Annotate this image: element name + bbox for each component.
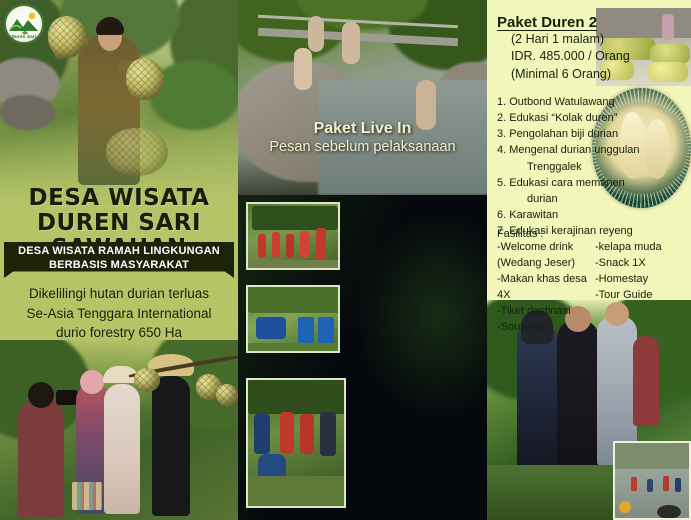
facility-item: -Snack 1X	[595, 256, 687, 272]
thumb-organic-fertilizer-drums	[246, 285, 340, 353]
thumb-grafting-education	[246, 378, 346, 508]
facilities-column-left: -Welcome drink (Wedang Jeser)-Makan khas…	[497, 240, 589, 336]
tourist-figure-2	[104, 384, 140, 514]
tagline-line-2: Se-Asia Tenggara International	[0, 304, 238, 324]
ribbon-line-2: BERBASIS MASYARAKAT	[49, 259, 189, 273]
paket-duren-2-facilities: Fasilitas : -Welcome drink (Wedang Jeser…	[497, 228, 689, 336]
rock-shape	[0, 95, 55, 130]
paket-duren-2-duration: (2 Hari 1 malam)	[497, 31, 647, 48]
photo-children-playing-river: Paket Live In Pesan sebelum pelaksanaan	[238, 0, 487, 195]
sun-icon	[29, 13, 36, 20]
tote-bag	[72, 482, 102, 510]
headline-line-1: DESA WISATA	[0, 186, 238, 211]
list-item: 4. Mengenal durian unggulanTrenggalek	[497, 142, 657, 174]
tourist-head-1	[80, 370, 104, 394]
blue-drum-1	[298, 317, 314, 343]
facility-item: (Wedang Jeser)	[497, 256, 589, 272]
durian-on-pole-3	[216, 384, 238, 406]
farmer-figure	[152, 376, 190, 516]
tagline-line-3: durio forestry 650 Ha	[0, 323, 238, 343]
person-red-shirt	[316, 228, 326, 260]
tube-icon	[657, 505, 681, 519]
durian-fruit-bottom	[106, 128, 168, 176]
foliage-shape	[150, 60, 238, 130]
child-figure-1	[294, 48, 312, 90]
thumb-group-trekking	[246, 202, 340, 270]
photographer-head	[28, 382, 54, 408]
person-red-shirt	[272, 232, 280, 258]
live-in-caption: Paket Live In Pesan sebelum pelaksanaan	[238, 120, 487, 155]
person-red-shirt	[300, 414, 314, 454]
blue-drum-2	[318, 317, 334, 343]
person-in-river	[663, 476, 669, 491]
foliage-shape	[248, 287, 340, 313]
tourist-maroon-figure	[633, 336, 659, 426]
mountain-icon	[9, 19, 38, 31]
list-item: 6. Karawitan	[497, 207, 657, 223]
person-in-river	[631, 477, 637, 491]
facilities-title: Fasilitas :	[497, 228, 689, 240]
person-red-shirt	[258, 234, 266, 258]
list-item: 3. Pengolahan biji durian	[497, 126, 657, 142]
vendor-figure	[662, 14, 674, 40]
person-red-shirt	[286, 234, 294, 258]
list-item: 2. Edukasi “Kolak duren”	[497, 110, 657, 126]
facility-item: -Welcome drink	[497, 240, 589, 256]
list-item: 5. Edukasi cara memanendurian	[497, 175, 657, 207]
facility-item: -kelapa muda	[595, 240, 687, 256]
tagline-block: Dikelilingi hutan durian terluas Se-Asia…	[0, 284, 238, 343]
blue-drum-large	[256, 317, 286, 339]
ribbon-line-1: DESA WISATA RAMAH LINGKUNGAN	[18, 245, 220, 259]
person-red-shirt	[300, 231, 309, 258]
durian-fruit-right	[126, 58, 164, 100]
ground-shape	[248, 476, 346, 508]
child-figure-2	[308, 16, 324, 52]
photo-river-activity-inset	[613, 441, 691, 520]
durian-fruit-left	[48, 16, 86, 58]
tourist-black-shirt	[557, 320, 599, 485]
paket-duren-2-item-list: 1. Outbond Watulawang2. Edukasi “Kolak d…	[497, 94, 657, 239]
camera-icon	[56, 390, 78, 405]
paket-duren-2-price: IDR. 485.000 / Orang	[497, 48, 647, 65]
ground-shape	[248, 260, 340, 270]
list-item: 1. Outbond Watulawang	[497, 94, 657, 110]
ribbon-banner: DESA WISATA RAMAH LINGKUNGAN BERBASIS MA…	[4, 242, 234, 278]
helmet-icon	[619, 501, 631, 513]
foliage-shape	[248, 380, 346, 414]
ground-shape	[248, 343, 340, 353]
facilities-column-right: -kelapa muda-Snack 1X-Homestay-Tour Guid…	[595, 240, 687, 336]
tourist-hijab-figure	[517, 322, 557, 482]
photographer-figure	[18, 398, 64, 518]
logo-caption: Duren Sari	[6, 34, 42, 39]
riverbank-shape	[615, 443, 691, 469]
person-dark-shirt	[320, 412, 336, 456]
tagline-line-1: Dikelilingi hutan durian terluas	[0, 284, 238, 304]
paket-duren-2-minimum: (Minimal 6 Orang)	[497, 66, 647, 83]
durian-on-pole-1	[134, 368, 160, 392]
duren-sari-logo: Duren Sari	[4, 4, 44, 44]
child-figure-3	[342, 22, 360, 64]
person-in-river	[647, 479, 653, 492]
durian-heap-4	[648, 62, 688, 82]
paket-duren-2-block: Paket Duren 2 (2 Hari 1 malam) IDR. 485.…	[497, 14, 647, 83]
tree-shape	[252, 206, 338, 230]
poster-root: DESA WISATA DUREN SARI SAWAHAN DESA WISA…	[0, 0, 691, 520]
person-blue-shirt	[254, 414, 270, 454]
facility-item: -Makan khas desa 4X	[497, 272, 589, 304]
photo-durian-harvest	[0, 340, 238, 520]
facility-item: -Souvenir	[497, 320, 589, 336]
person-in-river	[675, 478, 681, 492]
list-item-subtext: durian	[512, 191, 657, 207]
durian-heap-2	[650, 44, 690, 64]
middle-column: Paket Live In Pesan sebelum pelaksanaan	[238, 0, 487, 520]
facility-item: -Tiket destinasi	[497, 304, 589, 320]
live-in-subtitle: Pesan sebelum pelaksanaan	[238, 139, 487, 155]
left-column: DESA WISATA DUREN SARI SAWAHAN DESA WISA…	[0, 0, 238, 520]
list-item-subtext: Trenggalek	[512, 159, 657, 175]
facility-item: -Homestay	[595, 272, 687, 288]
live-in-title: Paket Live In	[238, 120, 487, 138]
paket-duren-2-title: Paket Duren 2	[497, 14, 647, 31]
facility-item: -Tour Guide	[595, 288, 687, 304]
person-red-shirt	[280, 412, 294, 454]
